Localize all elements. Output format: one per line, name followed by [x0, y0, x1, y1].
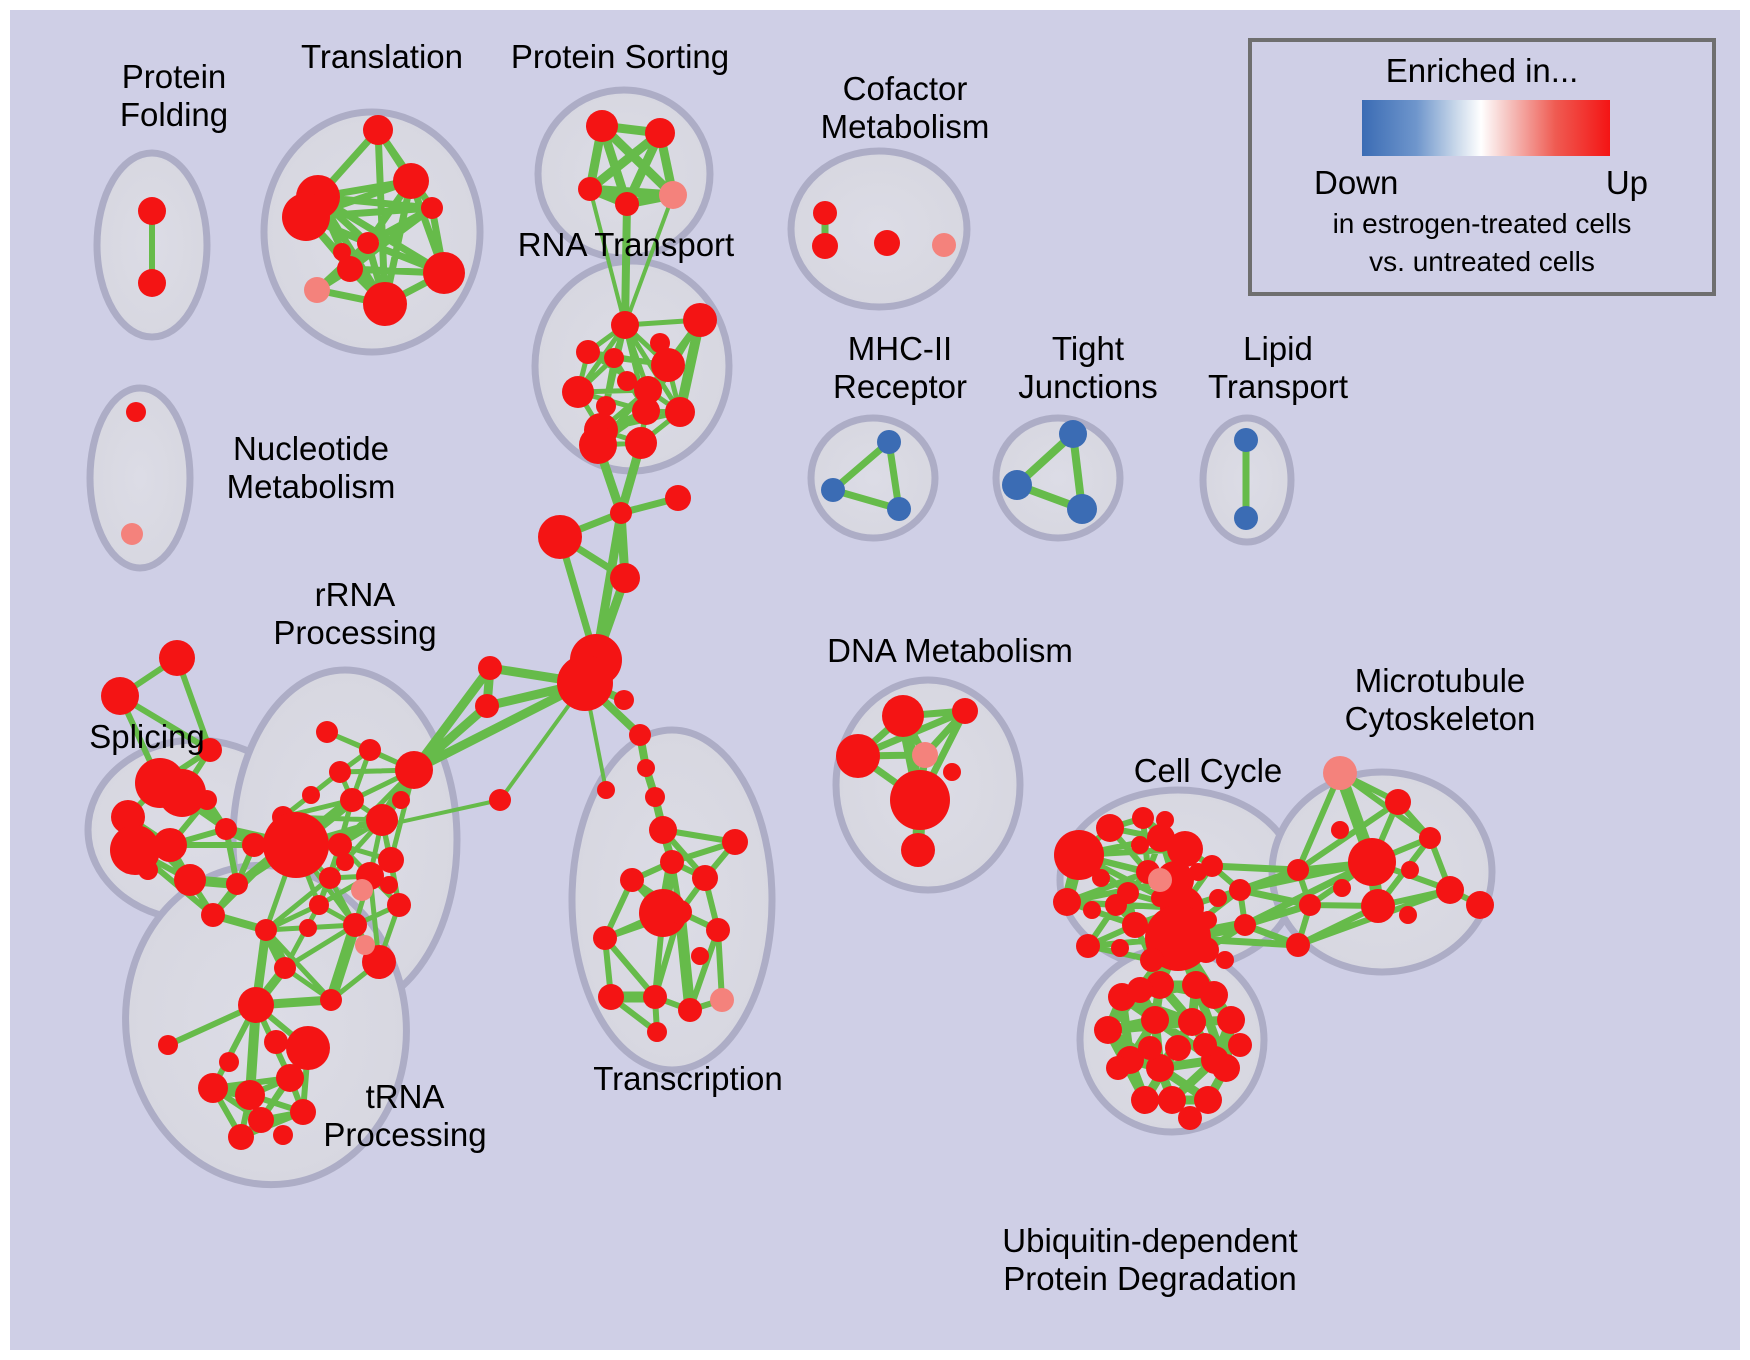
- figure-canvas: Protein Folding Translation Protein Sort…: [0, 0, 1750, 1360]
- label-trna-processing: tRNA Processing: [300, 1078, 510, 1154]
- label-protein-sorting: Protein Sorting: [490, 38, 750, 76]
- legend-down-label: Down: [1314, 164, 1398, 202]
- label-cofactor-metabolism: Cofactor Metabolism: [790, 70, 1020, 146]
- legend-title: Enriched in...: [1252, 52, 1712, 90]
- legend-up-label: Up: [1606, 164, 1648, 202]
- legend-subtitle-line1: in estrogen-treated cells: [1252, 208, 1712, 240]
- label-nucleotide-metabolism: Nucleotide Metabolism: [196, 430, 426, 506]
- legend-color-bar: [1362, 100, 1610, 156]
- legend-box: Enriched in... Down Up in estrogen-treat…: [1248, 38, 1716, 296]
- label-transcription: Transcription: [568, 1060, 808, 1098]
- edges-transport-to-hub: [596, 443, 641, 660]
- label-rna-transport: RNA Transport: [496, 226, 756, 264]
- label-dna-metabolism: DNA Metabolism: [810, 632, 1090, 670]
- legend-subtitle-line2: vs. untreated cells: [1252, 246, 1712, 278]
- halo-mhc-ii-receptor: [811, 418, 935, 538]
- label-splicing: Splicing: [52, 718, 242, 756]
- label-protein-folding: Protein Folding: [74, 58, 274, 134]
- label-rrna-processing: rRNA Processing: [250, 576, 460, 652]
- label-microtubule-cytoskeleton: Microtubule Cytoskeleton: [1300, 662, 1580, 738]
- label-tight-junctions: Tight Junctions: [988, 330, 1188, 406]
- halo-cofactor-metabolism: [791, 151, 967, 307]
- label-ubiquitin-degradation: Ubiquitin-dependent Protein Degradation: [980, 1222, 1320, 1298]
- edges-sorting-to-transport-thick: [625, 204, 627, 325]
- label-translation: Translation: [272, 38, 492, 76]
- label-lipid-transport: Lipid Transport: [1178, 330, 1378, 406]
- label-cell-cycle: Cell Cycle: [1098, 752, 1318, 790]
- label-mhc-ii-receptor: MHC-II Receptor: [800, 330, 1000, 406]
